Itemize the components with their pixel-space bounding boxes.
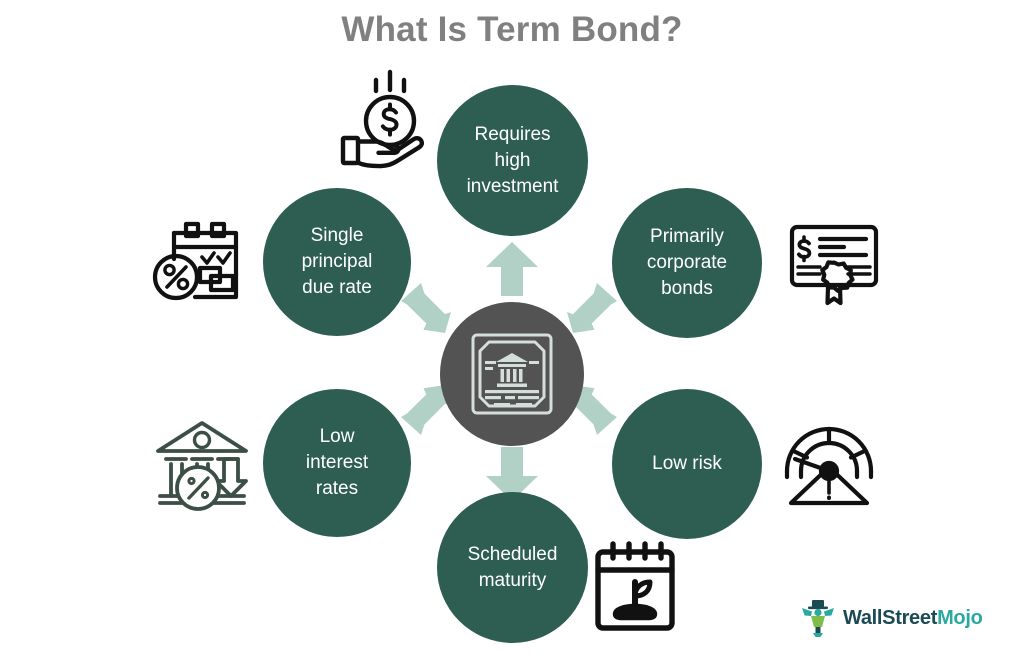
node-label: Scheduled maturity — [456, 542, 570, 594]
bond-certificate-icon — [468, 330, 556, 418]
arrow-up-icon — [486, 242, 538, 296]
node-label: Single principal due rate — [290, 223, 385, 301]
node-label: Requires high investment — [455, 122, 571, 200]
arrow-upper-right-icon — [567, 283, 617, 333]
brand-name-secondary: Mojo — [937, 607, 982, 629]
node-label: Low interest rates — [294, 424, 380, 502]
hub-bond-certificate — [440, 302, 584, 446]
arrow-upper-left-icon — [401, 283, 451, 333]
hand-holding-dollar-coin-icon — [335, 66, 445, 170]
node-low-interest-rates[interactable]: Low interest rates — [263, 389, 411, 537]
wallstreetmojo-logo[interactable]: WallStreetMojo — [800, 598, 983, 638]
risk-gauge-warning-icon — [779, 409, 879, 509]
node-label: Low risk — [640, 451, 734, 477]
brand-name-primary: WallStreet — [843, 607, 937, 629]
certificate-dollar-seal-icon — [784, 210, 884, 310]
node-low-risk[interactable]: Low risk — [612, 389, 762, 539]
node-primarily-corporate-bonds[interactable]: Primarily corporate bonds — [612, 188, 762, 338]
calendar-checkmarks-percent-icon — [152, 213, 252, 313]
node-label: Primarily corporate bonds — [635, 224, 739, 302]
bank-down-arrow-percent-icon — [152, 414, 252, 514]
node-scheduled-maturity[interactable]: Scheduled maturity — [437, 492, 588, 643]
calendar-plant-growth-icon — [589, 538, 681, 634]
node-requires-high-investment[interactable]: Requires high investment — [437, 85, 588, 236]
infographic-canvas: What Is Term Bond? — [0, 0, 1024, 662]
page-title: What Is Term Bond? — [0, 8, 1024, 52]
node-single-principal-due-rate[interactable]: Single principal due rate — [263, 188, 411, 336]
brand-wordmark: WallStreetMojo — [843, 607, 983, 630]
wallstreetmojo-mascot-icon — [800, 598, 836, 638]
